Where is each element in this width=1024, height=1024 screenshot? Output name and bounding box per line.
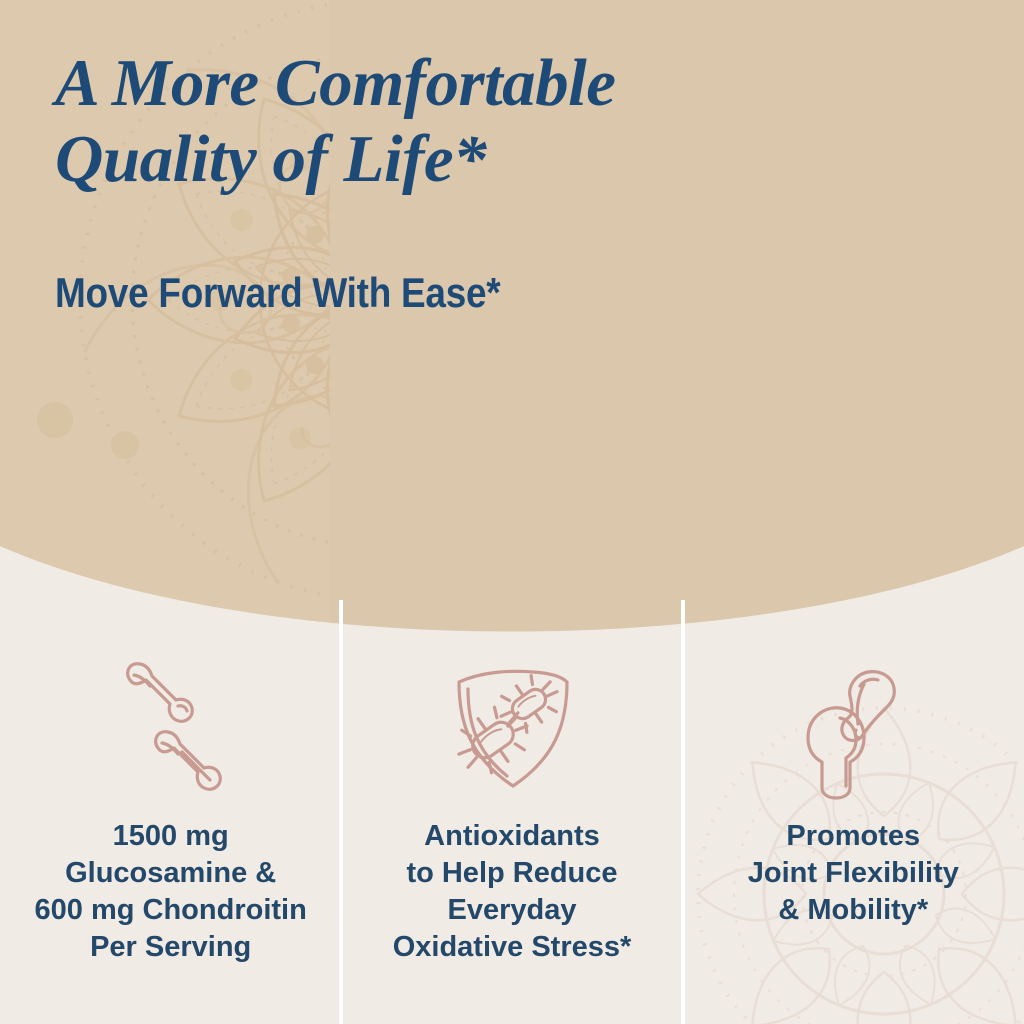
feature-item-3: Promotes Joint Flexibility & Mobility* — [683, 600, 1024, 1024]
product-marketing-image: live conscious BROAD SPECTRUM MOVEWELL M… — [0, 0, 1024, 1024]
feature-columns: 1500 mg Glucosamine & 600 mg Chondroitin… — [0, 600, 1024, 1024]
page-subtitle: Move Forward With Ease* — [55, 272, 500, 314]
feature-text-1: 1500 mg Glucosamine & 600 mg Chondroitin… — [27, 818, 315, 966]
bone-joint-icon — [96, 642, 246, 812]
shield-antioxidant-icon — [437, 642, 587, 812]
feature-item-1: 1500 mg Glucosamine & 600 mg Chondroitin… — [0, 600, 341, 1024]
hip-joint-icon — [778, 642, 928, 812]
feature-text-2: Antioxidants to Help Reduce Everyday Oxi… — [385, 818, 640, 966]
feature-item-2: Antioxidants to Help Reduce Everyday Oxi… — [341, 600, 682, 1024]
page-title: A More Comfortable Quality of Life* — [55, 46, 855, 197]
feature-text-3: Promotes Joint Flexibility & Mobility* — [740, 818, 967, 929]
